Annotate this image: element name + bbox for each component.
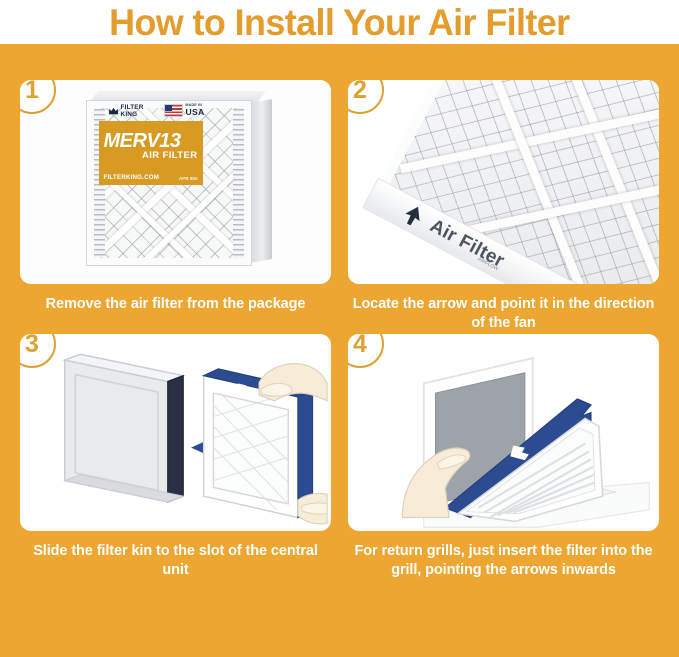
step-2-card: Air Filter AIRFLOW 2 — [348, 80, 659, 284]
usa-flag-icon — [164, 104, 183, 117]
return-grill-illustration — [348, 334, 659, 531]
filter-side-edge — [250, 99, 272, 263]
step-2-caption: Locate the arrow and point it in the dir… — [348, 295, 659, 333]
step-4-image — [348, 334, 659, 531]
made-in-usa-badge: MADE IN USA — [164, 104, 205, 117]
step-1: FILTER KING MADE IN USA — [20, 80, 331, 334]
filter-king-logo: FILTER KING — [108, 105, 144, 118]
merv-rating-label: MERV13 AIR FILTER FILTERKING.COM APR 850 — [99, 121, 203, 185]
step-1-caption: Remove the air filter from the package — [20, 295, 331, 314]
crown-icon — [108, 106, 119, 117]
slide-filter-illustration — [20, 334, 331, 531]
step-2: Air Filter AIRFLOW 2 Locate the arrow an… — [348, 80, 659, 334]
airflow-direction-arrow-icon — [399, 201, 427, 230]
page-title: How to Install Your Air Filter — [109, 4, 569, 41]
step-2-image: Air Filter AIRFLOW — [348, 80, 659, 284]
infographic-page: How to Install Your Air Filter — [0, 0, 679, 657]
step-1-image: FILTER KING MADE IN USA — [20, 80, 331, 284]
merv-label-bottom: FILTERKING.COM APR 850 — [104, 174, 198, 181]
steps-grid: FILTER KING MADE IN USA — [0, 44, 679, 657]
step-4: 4 For return grills, just insert the fil… — [348, 334, 659, 649]
step-3-card: 3 — [20, 334, 331, 531]
central-unit-body — [65, 354, 184, 502]
merv-label-top: MERV13 AIR FILTER — [104, 125, 198, 161]
step-3-image — [20, 334, 331, 531]
filter-frame-left — [87, 101, 94, 265]
step-3: 3 Slide the filter kin to the slot of th… — [20, 334, 331, 649]
steps-board: FILTER KING MADE IN USA — [0, 44, 679, 657]
step-4-caption: For return grills, just insert the filte… — [348, 542, 659, 580]
air-filter-product-photo: FILTER KING MADE IN USA — [86, 91, 272, 273]
step-1-card: FILTER KING MADE IN USA — [20, 80, 331, 284]
hand-lower — [298, 493, 327, 523]
filter-king-logo-text: FILTER KING — [121, 105, 144, 118]
air-filter-angled-photo: Air Filter AIRFLOW — [372, 80, 659, 284]
title-bar: How to Install Your Air Filter — [0, 0, 679, 44]
step-3-caption: Slide the filter kin to the slot of the … — [20, 542, 331, 580]
filter-pleats-right — [233, 109, 244, 257]
filter-frame-right — [244, 101, 251, 265]
made-in-usa-text: MADE IN USA — [186, 104, 205, 116]
step-4-card: 4 — [348, 334, 659, 531]
filter-frame-bottom — [87, 258, 251, 265]
